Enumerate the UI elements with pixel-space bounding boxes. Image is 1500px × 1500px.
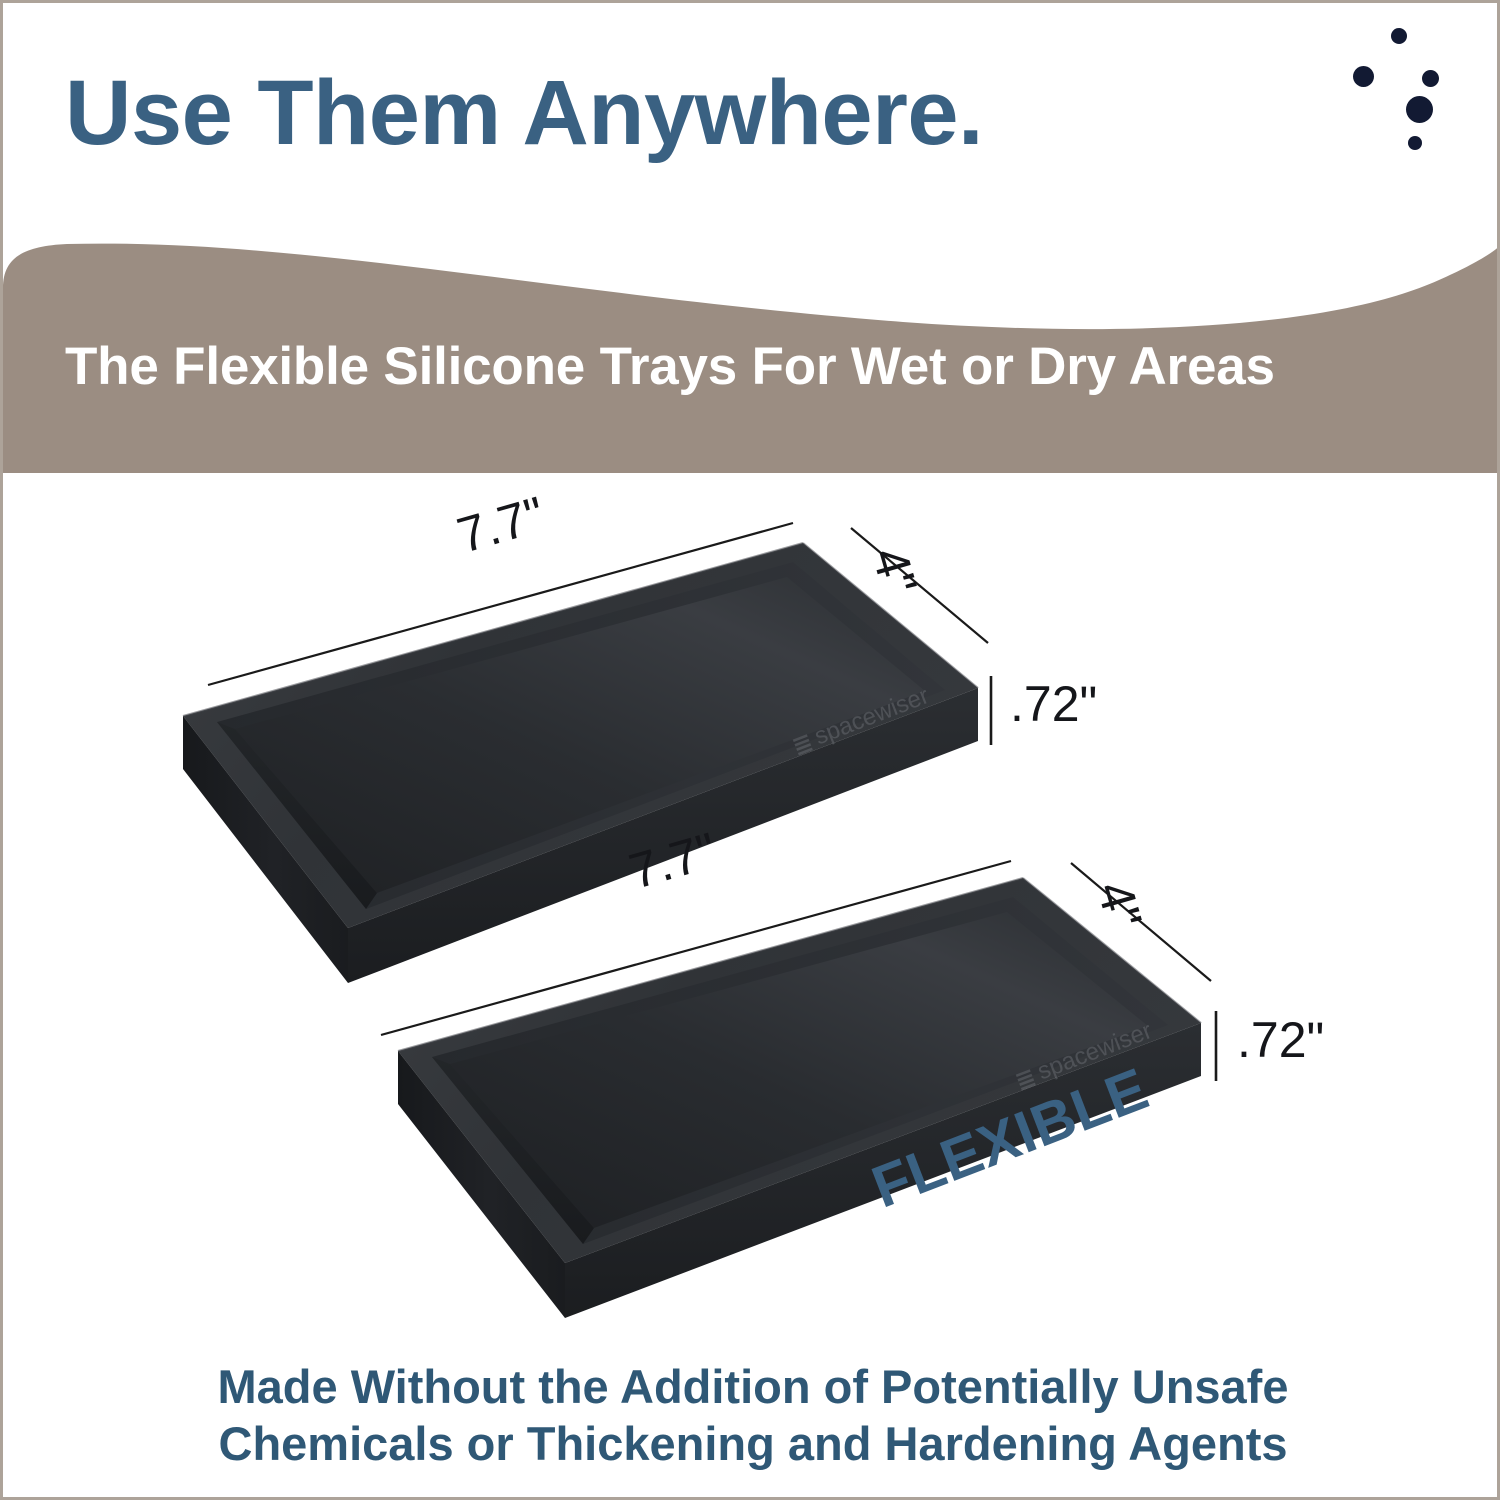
- page-title: Use Them Anywhere.: [65, 61, 983, 166]
- decorative-dot: [1353, 66, 1374, 87]
- decorative-dot: [1391, 28, 1407, 44]
- decorative-dots-cluster: [1353, 28, 1483, 178]
- footer-claim: Made Without the Addition of Potentially…: [3, 1358, 1500, 1473]
- subtitle-banner: The Flexible Silicone Trays For Wet or D…: [3, 218, 1500, 473]
- headline-section: Use Them Anywhere.: [3, 3, 1500, 253]
- product-infographic: Use Them Anywhere. The Flexible Silicone…: [0, 0, 1500, 1500]
- dimension-label-height-bottom: .72": [1237, 1011, 1324, 1069]
- footer-line-2: Chemicals or Thickening and Hardening Ag…: [3, 1415, 1500, 1472]
- product-illustration-area: spacewiser: [3, 473, 1500, 1353]
- decorative-dot: [1422, 70, 1439, 87]
- decorative-dot: [1406, 96, 1433, 123]
- decorative-dot: [1408, 136, 1422, 150]
- trays-svg: spacewiser: [3, 473, 1500, 1353]
- dimension-label-height-top: .72": [1010, 675, 1097, 733]
- banner-subtitle: The Flexible Silicone Trays For Wet or D…: [65, 336, 1275, 397]
- footer-line-1: Made Without the Addition of Potentially…: [3, 1358, 1500, 1415]
